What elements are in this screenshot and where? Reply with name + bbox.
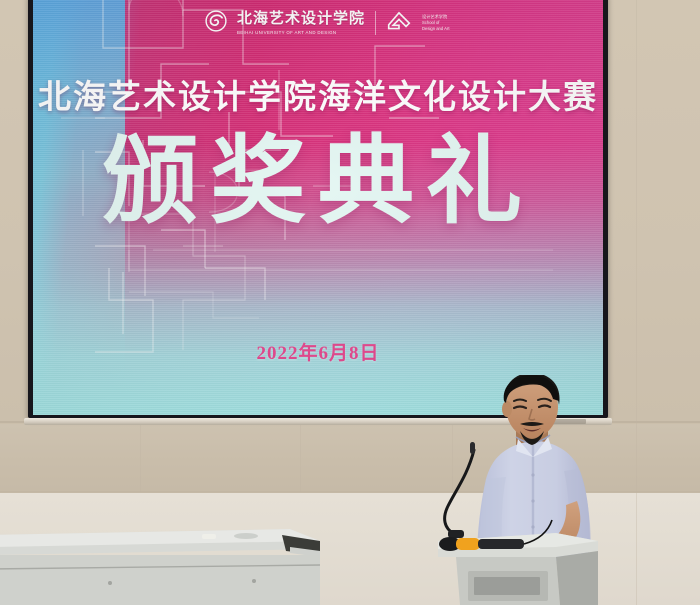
microphone-group xyxy=(420,440,590,560)
front-desk xyxy=(0,525,350,605)
photo-stage: 北海艺术设计学院 BEIHAI UNIVERSITY OF ART AND DE… xyxy=(0,0,700,605)
screen-vignette xyxy=(33,0,603,415)
projection-screen: 北海艺术设计学院 BEIHAI UNIVERSITY OF ART AND DE… xyxy=(33,0,603,415)
gooseneck-microphone xyxy=(445,442,475,538)
